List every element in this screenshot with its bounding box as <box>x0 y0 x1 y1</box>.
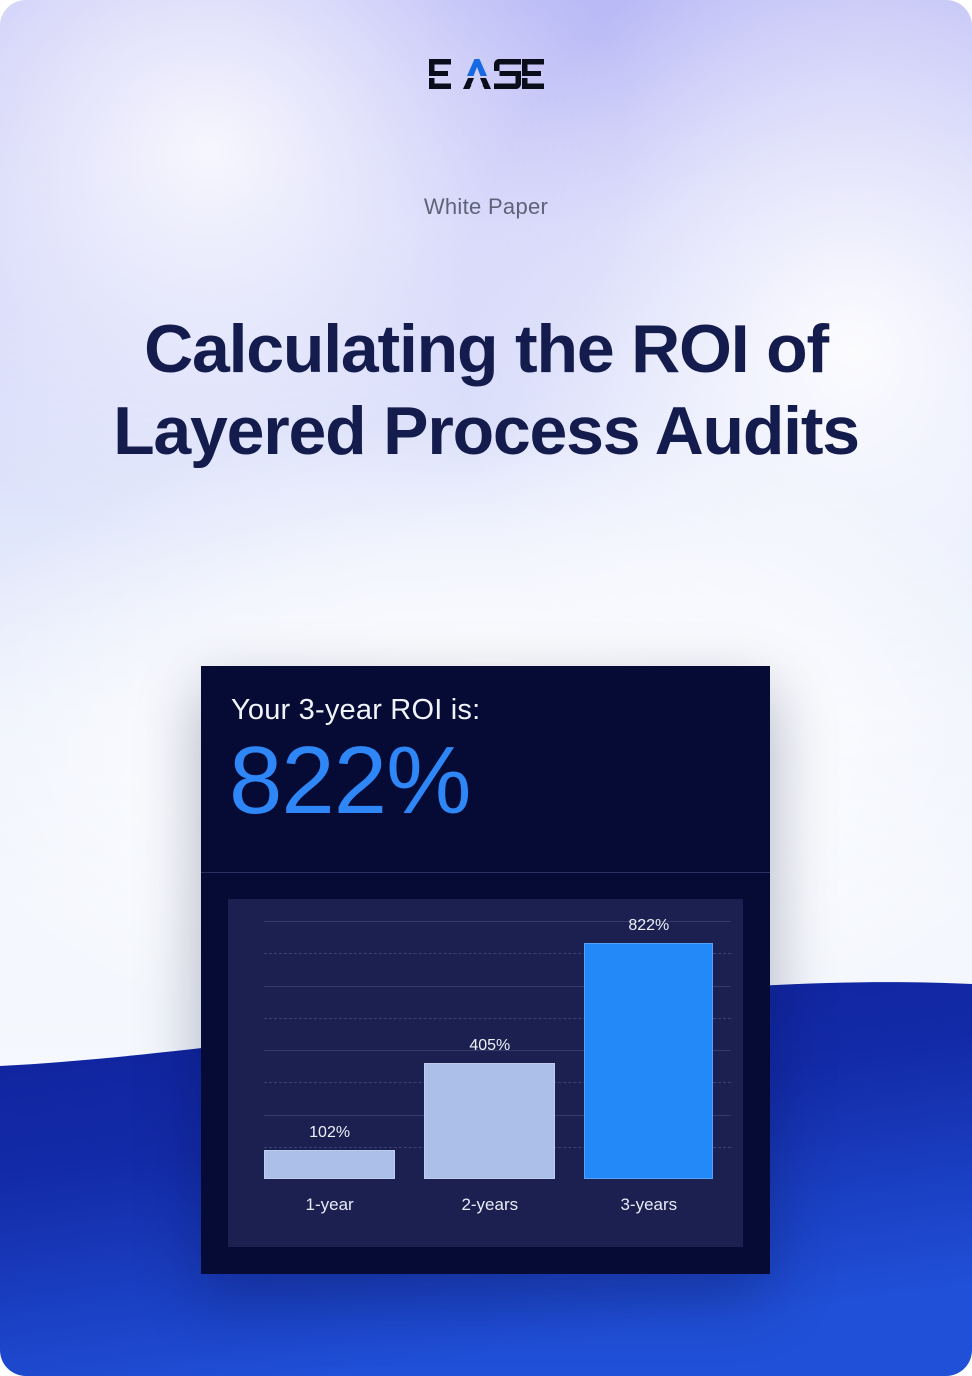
bar-value-label: 822% <box>584 917 713 935</box>
bar-value-label: 102% <box>264 1124 395 1142</box>
bar-2-years[interactable]: 405% <box>424 1063 555 1179</box>
roi-bar-chart: 102%405%822% 1-year2-years3-years <box>228 899 743 1247</box>
ease-wordmark-icon <box>428 57 544 91</box>
roi-card-header: Your 3-year ROI is: 822% <box>201 666 770 873</box>
eyebrow-label: White Paper <box>0 194 972 220</box>
bar-3-years[interactable]: 822% <box>584 943 713 1179</box>
roi-result-card: Your 3-year ROI is: 822% 102%405%822% 1-… <box>201 666 770 1274</box>
chart-plot-area: 102%405%822% <box>264 921 731 1179</box>
bar-rect <box>424 1063 555 1179</box>
chart-bars: 102%405%822% <box>264 921 731 1179</box>
x-label-2-years: 2-years <box>424 1195 555 1215</box>
bar-rect <box>584 943 713 1179</box>
x-label-1-year: 1-year <box>264 1195 395 1215</box>
roi-value: 822% <box>229 726 471 836</box>
bar-rect <box>264 1150 395 1179</box>
x-label-3-years: 3-years <box>584 1195 713 1215</box>
page-root: White Paper Calculating the ROI of Layer… <box>0 0 972 1376</box>
bar-value-label: 405% <box>424 1037 555 1055</box>
roi-label: Your 3-year ROI is: <box>231 694 480 727</box>
roi-chart-section: 102%405%822% 1-year2-years3-years <box>201 873 770 1273</box>
page-title: Calculating the ROI of Layered Process A… <box>96 308 876 472</box>
bar-1-year[interactable]: 102% <box>264 1150 395 1179</box>
brand-logo <box>0 57 972 91</box>
chart-x-axis-labels: 1-year2-years3-years <box>264 1195 731 1217</box>
